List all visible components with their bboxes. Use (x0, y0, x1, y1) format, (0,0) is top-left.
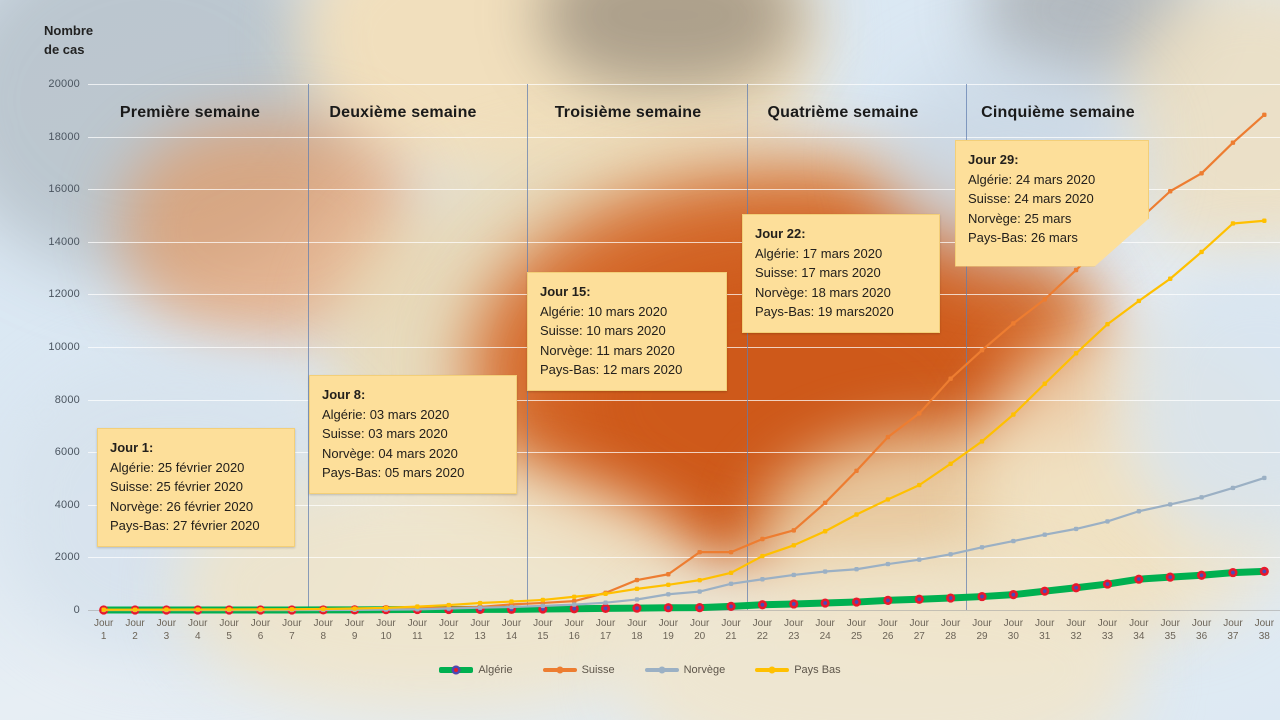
callout-line: Norvège: 04 mars 2020 (322, 444, 504, 464)
series-marker (854, 469, 858, 473)
series-marker (917, 557, 921, 561)
y-axis-tick-label: 10000 (48, 341, 80, 353)
series-marker-core (1262, 569, 1266, 573)
legend-marker (452, 666, 461, 675)
x-axis-tick-label: Jour17 (591, 618, 621, 643)
series-marker (572, 602, 576, 606)
legend-swatch (645, 668, 679, 672)
series-marker-core (792, 602, 796, 606)
callout-title: Jour 29: (968, 152, 1019, 167)
series-marker (478, 606, 482, 610)
series-marker (509, 605, 513, 609)
series-marker (886, 497, 890, 501)
callout-line: Norvège: 11 mars 2020 (540, 341, 714, 361)
legend-label: Norvège (684, 664, 726, 676)
series-marker (1011, 412, 1015, 416)
series-marker (164, 607, 168, 611)
y-axis-tick-label: 20000 (48, 78, 80, 90)
x-axis-tick-label: Jour3 (151, 618, 181, 643)
x-axis-tick-label: Jour2 (120, 618, 150, 643)
x-axis-tick-label: Jour13 (465, 618, 495, 643)
x-axis-tick-label: Jour35 (1155, 618, 1185, 643)
series-marker (792, 528, 796, 532)
legend-swatch (439, 667, 473, 673)
callout-line: Norvège: 18 mars 2020 (755, 283, 927, 303)
legend-item-norvège[interactable]: Norvège (645, 664, 726, 676)
callout-jour-22: Jour 22: Algérie: 17 mars 2020 Suisse: 1… (742, 214, 940, 333)
y-axis-tick-label: 6000 (55, 446, 80, 458)
series-marker (1168, 277, 1172, 281)
series-marker-core (1106, 582, 1110, 586)
x-axis-tick-label: Jour22 (747, 618, 777, 643)
x-axis-tick-label: Jour1 (89, 618, 119, 643)
series-marker (697, 589, 701, 593)
x-axis-tick-label: Jour10 (371, 618, 401, 643)
callout-line: Algérie: 25 février 2020 (110, 458, 282, 478)
series-marker-core (886, 598, 890, 602)
series-marker (948, 376, 952, 380)
legend-swatch (755, 668, 789, 672)
series-marker (886, 562, 890, 566)
week-label-5: Cinquième semaine (958, 104, 1158, 122)
x-axis-tick-label: Jour16 (559, 618, 589, 643)
callout-line: Pays-Bas: 19 mars2020 (755, 302, 927, 322)
y-axis-tick-label: 0 (74, 604, 80, 616)
week-label-3: Troisième semaine (528, 104, 728, 122)
series-marker (823, 529, 827, 533)
series-marker (541, 604, 545, 608)
x-axis-tick-label: Jour37 (1218, 618, 1248, 643)
series-marker (541, 598, 545, 602)
series-marker (760, 554, 764, 558)
x-axis-tick-label: Jour29 (967, 618, 997, 643)
x-axis-tick-label: Jour15 (528, 618, 558, 643)
x-axis-tick-label: Jour27 (904, 618, 934, 643)
series-marker (792, 573, 796, 577)
x-axis-tick-label: Jour6 (246, 618, 276, 643)
callout-line: Algérie: 10 mars 2020 (540, 302, 714, 322)
series-marker (1043, 382, 1047, 386)
series-marker (823, 569, 827, 573)
callout-line: Norvège: 25 mars (968, 209, 1136, 229)
x-axis-tick-label: Jour4 (183, 618, 213, 643)
y-axis-tick-label: 8000 (55, 394, 80, 406)
y-axis-title: Nombre de cas (44, 22, 93, 60)
series-marker (980, 545, 984, 549)
x-axis-tick-label: Jour26 (873, 618, 903, 643)
callout-jour-1: Jour 1: Algérie: 25 février 2020 Suisse:… (97, 428, 295, 547)
series-marker (133, 607, 137, 611)
series-marker (352, 606, 356, 610)
series-marker-core (635, 606, 639, 610)
series-marker (603, 601, 607, 605)
x-axis-tick-label: Jour9 (340, 618, 370, 643)
legend-marker (658, 667, 665, 674)
series-marker-core (1168, 575, 1172, 579)
legend-label: Algérie (478, 664, 512, 676)
series-marker (1011, 321, 1015, 325)
series-marker (917, 483, 921, 487)
series-marker (321, 607, 325, 611)
callout-title: Jour 15: (540, 284, 591, 299)
series-marker (196, 607, 200, 611)
callout-title: Jour 1: (110, 440, 153, 455)
series-marker (101, 608, 105, 612)
x-axis-tick-label: Jour11 (402, 618, 432, 643)
legend-item-pays-bas[interactable]: Pays Bas (755, 664, 840, 676)
callout-line: Norvège: 26 février 2020 (110, 497, 282, 517)
series-line-algérie (104, 571, 1265, 610)
series-marker (1074, 268, 1078, 272)
series-marker (697, 578, 701, 582)
series-marker (666, 592, 670, 596)
callout-title: Jour 8: (322, 387, 365, 402)
series-marker (729, 582, 733, 586)
x-axis-tick-label: Jour24 (810, 618, 840, 643)
callout-title: Jour 22: (755, 226, 806, 241)
series-marker (980, 348, 984, 352)
series-marker (1043, 297, 1047, 301)
series-marker-core (949, 596, 953, 600)
x-axis-tick-label: Jour19 (653, 618, 683, 643)
series-marker (760, 577, 764, 581)
series-marker (447, 603, 451, 607)
series-marker (1105, 322, 1109, 326)
series-marker-core (823, 601, 827, 605)
legend-label: Suisse (582, 664, 615, 676)
callout-line: Suisse: 24 mars 2020 (968, 189, 1136, 209)
series-marker (1262, 113, 1266, 117)
series-marker (917, 411, 921, 415)
series-marker (1199, 171, 1203, 175)
series-marker-core (855, 600, 859, 604)
series-marker (1262, 476, 1266, 480)
series-marker-core (1200, 573, 1204, 577)
callout-line: Suisse: 25 février 2020 (110, 477, 282, 497)
series-marker (1262, 219, 1266, 223)
series-marker-core (572, 607, 576, 611)
callout-line: Suisse: 10 mars 2020 (540, 321, 714, 341)
chart-legend: AlgérieSuisseNorvègePays Bas (0, 664, 1280, 676)
series-marker-core (917, 597, 921, 601)
callout-jour-8: Jour 8: Algérie: 03 mars 2020 Suisse: 03… (309, 375, 517, 494)
x-axis-tick-label: Jour33 (1092, 618, 1122, 643)
callout-line: Pays-Bas: 26 mars (968, 228, 1136, 248)
series-marker (666, 583, 670, 587)
series-marker (729, 550, 733, 554)
series-marker (1231, 486, 1235, 490)
series-marker (886, 435, 890, 439)
series-marker (290, 607, 294, 611)
series-marker (1199, 250, 1203, 254)
y-axis-tick-label: 14000 (48, 236, 80, 248)
series-marker (258, 607, 262, 611)
series-marker (384, 606, 388, 610)
series-marker-core (1137, 577, 1141, 581)
y-axis-title-line1: Nombre (44, 22, 93, 41)
series-marker (729, 571, 733, 575)
x-axis-tick-label: Jour28 (936, 618, 966, 643)
series-marker (948, 552, 952, 556)
series-marker (697, 550, 701, 554)
series-marker (854, 512, 858, 516)
legend-marker (556, 667, 563, 674)
series-marker (1074, 351, 1078, 355)
legend-item-algérie[interactable]: Algérie (439, 664, 512, 676)
series-marker-core (1043, 589, 1047, 593)
callout-line: Algérie: 17 mars 2020 (755, 244, 927, 264)
x-axis-tick-label: Jour12 (434, 618, 464, 643)
x-axis-tick-label: Jour32 (1061, 618, 1091, 643)
series-marker (1137, 509, 1141, 513)
callout-jour-15: Jour 15: Algérie: 10 mars 2020 Suisse: 1… (527, 272, 727, 391)
series-marker-core (1231, 571, 1235, 575)
y-axis-tick-label: 12000 (48, 288, 80, 300)
series-marker (823, 501, 827, 505)
x-axis-tick-label: Jour30 (998, 618, 1028, 643)
callout-line: Algérie: 03 mars 2020 (322, 405, 504, 425)
x-axis-tick-label: Jour36 (1187, 618, 1217, 643)
callout-line: Suisse: 17 mars 2020 (755, 263, 927, 283)
y-axis-tick-label: 2000 (55, 551, 80, 563)
callout-line: Pays-Bas: 27 février 2020 (110, 516, 282, 536)
legend-label: Pays Bas (794, 664, 840, 676)
series-marker (227, 607, 231, 611)
series-marker (572, 595, 576, 599)
series-marker (980, 439, 984, 443)
x-axis-tick-label: Jour23 (779, 618, 809, 643)
series-marker (760, 537, 764, 541)
series-marker (1011, 539, 1015, 543)
series-marker (635, 597, 639, 601)
series-marker (1199, 495, 1203, 499)
x-axis-tick-label: Jour8 (308, 618, 338, 643)
x-axis-tick-label: Jour7 (277, 618, 307, 643)
series-marker (1168, 189, 1172, 193)
x-axis-tick-label: Jour38 (1249, 618, 1279, 643)
series-marker (854, 567, 858, 571)
callout-line: Pays-Bas: 12 mars 2020 (540, 360, 714, 380)
series-marker (948, 462, 952, 466)
series-marker-core (698, 606, 702, 610)
week-label-4: Quatrième semaine (743, 104, 943, 122)
series-marker (666, 572, 670, 576)
series-marker (1168, 502, 1172, 506)
series-marker (478, 601, 482, 605)
week-label-2: Deuxième semaine (303, 104, 503, 122)
series-marker-core (604, 607, 608, 611)
series-marker (415, 604, 419, 608)
y-axis-tick-label: 18000 (48, 131, 80, 143)
series-marker (1231, 141, 1235, 145)
series-marker (1043, 533, 1047, 537)
week-label-1: Première semaine (90, 104, 290, 122)
series-marker-core (1074, 586, 1078, 590)
chart-screenshot: Nombre de cas 02000400060008000100001200… (0, 0, 1280, 720)
callout-line: Pays-Bas: 05 mars 2020 (322, 463, 504, 483)
y-axis-title-line2: de cas (44, 41, 93, 60)
x-axis-tick-label: Jour20 (685, 618, 715, 643)
series-marker (1231, 221, 1235, 225)
series-marker (635, 587, 639, 591)
legend-swatch (543, 668, 577, 672)
series-marker-core (729, 604, 733, 608)
series-marker (509, 599, 513, 603)
callout-line: Suisse: 03 mars 2020 (322, 424, 504, 444)
series-marker (1105, 519, 1109, 523)
series-marker (603, 592, 607, 596)
series-marker (1137, 299, 1141, 303)
series-marker (1074, 527, 1078, 531)
callout-line: Algérie: 24 mars 2020 (968, 170, 1136, 190)
x-axis-tick-label: Jour14 (496, 618, 526, 643)
x-axis-tick-label: Jour21 (716, 618, 746, 643)
x-axis-tick-label: Jour25 (842, 618, 872, 643)
x-axis-tick-label: Jour18 (622, 618, 652, 643)
legend-marker (769, 667, 776, 674)
legend-item-suisse[interactable]: Suisse (543, 664, 615, 676)
x-axis-tick-label: Jour31 (1030, 618, 1060, 643)
x-axis-tick-label: Jour5 (214, 618, 244, 643)
series-marker (635, 578, 639, 582)
series-marker-core (761, 603, 765, 607)
y-axis-tick-label: 16000 (48, 183, 80, 195)
series-marker-core (1011, 593, 1015, 597)
series-marker-core (980, 595, 984, 599)
series-marker (792, 543, 796, 547)
y-axis-tick-label: 4000 (55, 499, 80, 511)
x-axis-tick-label: Jour34 (1124, 618, 1154, 643)
series-marker-core (666, 606, 670, 610)
